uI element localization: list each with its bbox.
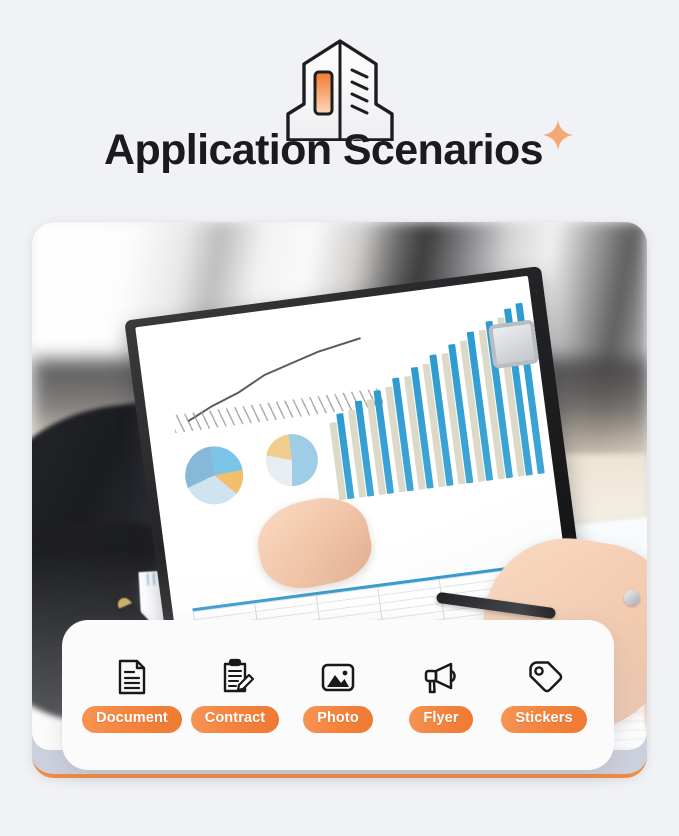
tag-icon (524, 657, 564, 697)
page-root: Application Scenarios (0, 0, 679, 836)
image-icon (318, 657, 358, 697)
category-label: Contract (191, 706, 279, 733)
category-item-stickers[interactable]: Stickers (494, 657, 594, 733)
megaphone-icon (421, 657, 461, 697)
category-label: Flyer (409, 706, 472, 733)
category-item-flyer[interactable]: Flyer (391, 657, 491, 733)
category-card: Document Contract (62, 620, 614, 770)
document-icon (112, 657, 152, 697)
category-item-contract[interactable]: Contract (185, 657, 285, 733)
sparkle-icon (541, 118, 575, 152)
header: Application Scenarios (0, 0, 679, 212)
clipboard-pencil-icon (215, 657, 255, 697)
page-title: Application Scenarios (104, 128, 543, 173)
category-item-photo[interactable]: Photo (288, 657, 388, 733)
category-label: Stickers (501, 706, 586, 733)
title-row: Application Scenarios (0, 128, 679, 173)
category-item-document[interactable]: Document (82, 657, 182, 733)
category-label: Document (82, 706, 182, 733)
category-label: Photo (303, 706, 373, 733)
